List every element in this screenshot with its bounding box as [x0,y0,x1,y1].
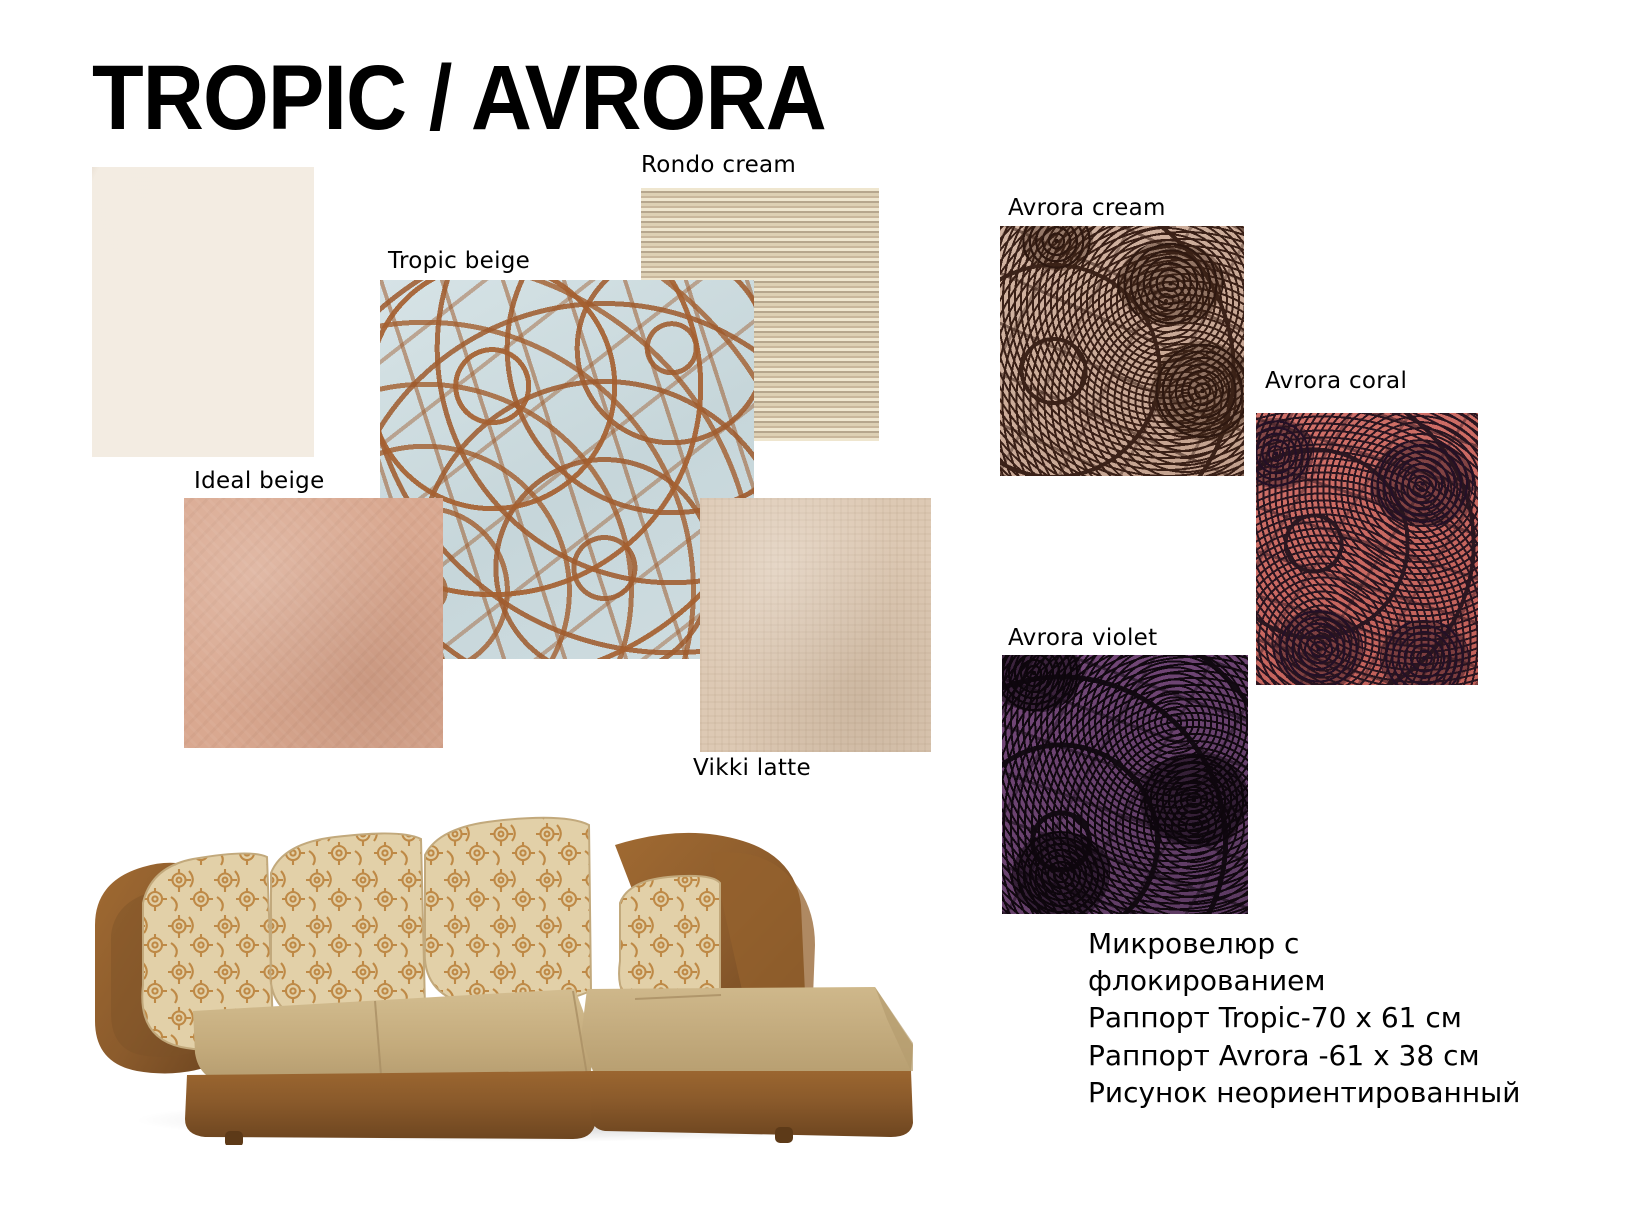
corner-sofa-photo [75,775,955,1145]
swatch-tropic-orange[interactable] [92,167,314,457]
fabric-fold [92,167,162,457]
spec-line-3: Раппорт Tropic-70 х 61 см [1088,999,1558,1036]
floral-motif [1371,440,1473,527]
slide-canvas: TROPIC / AVRORA Rondo cream Tropic beige… [0,0,1634,1227]
swatch-label-vikki-latte: Vikki latte [693,755,811,781]
fabric-spec-text: Микровелюр с флокированием Раппорт Tropi… [1088,925,1558,1111]
swatch-label-avrora-violet: Avrora violet [1008,625,1157,651]
sofa-base-chaise [591,1071,913,1137]
floral-motif [1151,341,1244,441]
swatch-avrora-cream[interactable] [1000,226,1244,476]
floral-motif [1012,831,1110,914]
floral-motif [1256,418,1314,489]
spec-line-5: Рисунок неориентированный [1088,1074,1558,1111]
swatch-label-ideal-beige: Ideal beige [194,468,325,494]
swatch-label-tropic-beige: Tropic beige [388,248,530,274]
swatch-ideal-beige[interactable] [184,498,443,748]
sofa-foot [225,1131,243,1145]
floral-motif [1274,609,1363,685]
swatch-label-avrora-coral: Avrora coral [1265,368,1407,394]
floral-motif [1020,226,1093,271]
swatch-label-rondo-cream: Rondo cream [641,152,796,178]
spec-line-2: флокированием [1088,962,1558,999]
sofa-base-left [185,1071,595,1139]
floral-motif [1117,241,1224,326]
floral-motif [1140,753,1248,846]
swatch-avrora-violet[interactable] [1002,655,1248,914]
page-title: TROPIC / AVRORA [92,52,826,144]
swatch-label-avrora-cream: Avrora cream [1008,195,1166,221]
spec-line-1: Микровелюр с [1088,925,1558,962]
floral-motif [1002,655,1081,712]
swatch-avrora-coral[interactable] [1256,413,1478,685]
floral-motif [1380,620,1469,685]
sofa-chaise-seat [581,987,913,1077]
swatch-vikki-latte[interactable] [700,498,931,752]
spec-line-4: Раппорт Avrora -61 х 38 см [1088,1037,1558,1074]
sofa-foot [775,1127,793,1143]
